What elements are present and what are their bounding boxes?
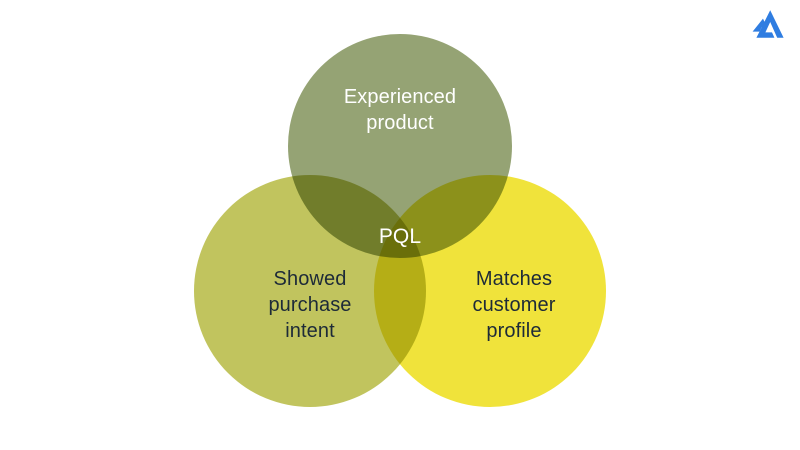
venn-diagram: Experienced product Showed purchase inte… (0, 0, 800, 450)
slide-canvas: Experienced product Showed purchase inte… (0, 0, 800, 450)
venn-circles-svg (0, 0, 800, 450)
venn-circle-matches-customer-profile[interactable] (374, 175, 606, 407)
